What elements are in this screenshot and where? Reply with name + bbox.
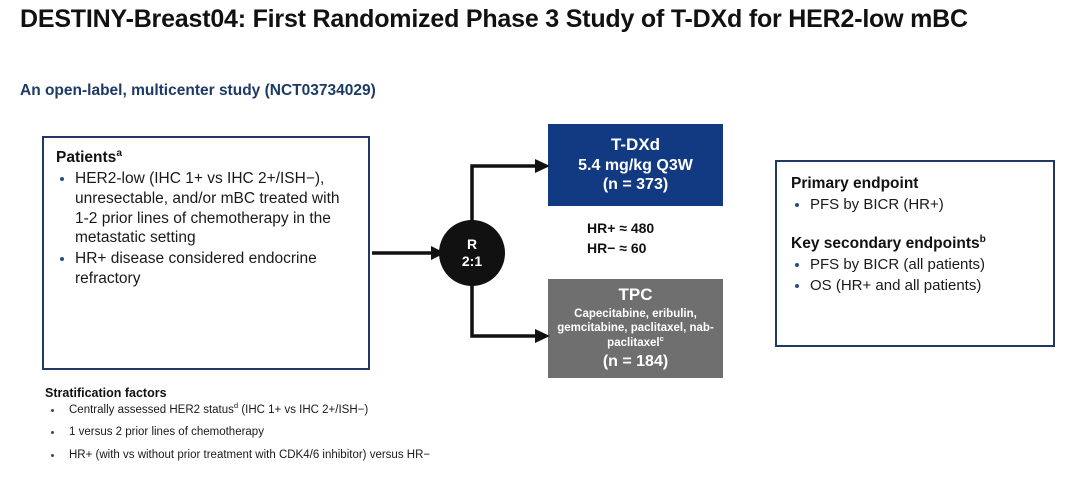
arrowhead-to-tpc — [535, 329, 550, 343]
randomization-node: R 2:1 — [439, 220, 505, 286]
connector-randomization-to-tpc — [472, 284, 540, 336]
flow-connectors — [0, 0, 1080, 484]
randomization-ratio: 2:1 — [462, 253, 482, 269]
randomization-label: R — [467, 237, 477, 252]
arrowhead-to-tdxd — [535, 159, 550, 173]
slide-canvas: DESTINY-Breast04: First Randomized Phase… — [0, 0, 1080, 484]
connector-randomization-to-tdxd — [472, 166, 540, 222]
